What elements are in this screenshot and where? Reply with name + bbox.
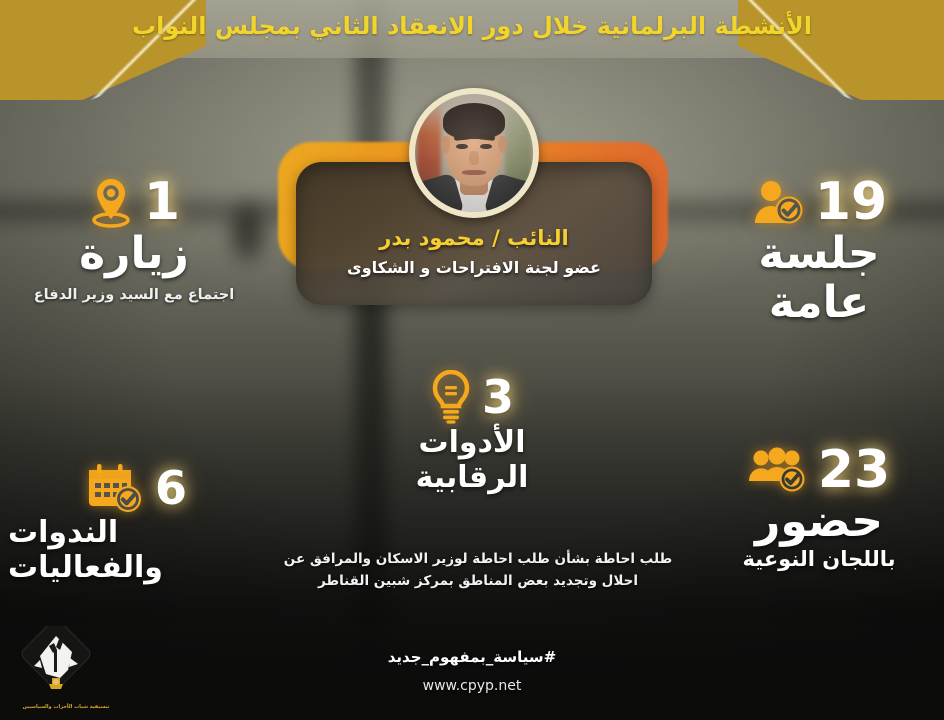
header-banner: الأنشطة البرلمانية خلال دور الانعقاد الث…: [0, 0, 944, 58]
stat-tools: 3 الأدوات الرقابية: [332, 370, 612, 493]
lightbulb-icon: [430, 370, 472, 424]
stat-visit-label: زيارة: [0, 232, 268, 277]
stat-visit-value: 1: [144, 176, 180, 228]
footer-url[interactable]: www.cpyp.net: [0, 678, 944, 694]
stat-tools-label-1: الأدوات: [332, 428, 612, 459]
stat-visit-note: اجتماع مع السيد وزير الدفاع: [0, 285, 268, 306]
footer: #سياسة_بمفهوم_جديد www.cpyp.net تنسيقية …: [0, 624, 944, 720]
stat-visit: 1 زيارة اجتماع مع السيد وزير الدفاع: [0, 176, 268, 306]
stat-tools-note: طلب احاطة بشأن طلب احاطة لوزير الاسكان و…: [268, 548, 688, 593]
user-check-icon: [751, 179, 805, 225]
logo-caption: تنسيقية شباب الأحزاب والسياسيين: [16, 704, 116, 710]
mp-name: النائب / محمود بدر: [296, 226, 652, 250]
users-check-icon: [748, 447, 808, 493]
stat-sessions: 19 جلسة عامة: [694, 176, 944, 326]
map-pin-icon: [88, 176, 134, 228]
stat-attendance-label: حضور: [694, 500, 944, 545]
footer-hashtag: #سياسة_بمفهوم_جديد: [0, 648, 944, 666]
stat-attendance-sub: باللجان النوعية: [694, 547, 944, 571]
stat-sessions-value: 19: [815, 176, 887, 228]
stat-events: 6 الندوات والفعاليات: [8, 462, 264, 583]
mp-card: النائب / محمود بدر عضو لجنة الافتراحات و…: [282, 150, 664, 305]
stat-attendance-value: 23: [818, 444, 890, 496]
stat-sessions-label-1: جلسة: [694, 232, 944, 277]
avatar: [409, 88, 539, 218]
calendar-check-icon: [85, 462, 143, 514]
coalition-diamond-logo-icon: تنسيقية شباب الأحزاب والسياسيين: [16, 626, 116, 712]
stat-tools-label-2: الرقابية: [332, 463, 612, 494]
stat-attendance: 23 حضور باللجان النوعية: [694, 444, 944, 571]
stat-tools-value: 3: [482, 374, 514, 420]
stat-sessions-label-2: عامة: [694, 281, 944, 326]
mp-role: عضو لجنة الافتراحات و الشكاوى: [296, 258, 652, 277]
infographic-canvas: الأنشطة البرلمانية خلال دور الانعقاد الث…: [0, 0, 944, 720]
portrait-photo-icon: [415, 94, 533, 212]
page-title: الأنشطة البرلمانية خلال دور الانعقاد الث…: [0, 6, 944, 46]
stat-events-label-1: الندوات: [8, 518, 118, 549]
mp-card-body: النائب / محمود بدر عضو لجنة الافتراحات و…: [296, 162, 652, 305]
stat-events-label-2: والفعاليات: [8, 553, 163, 584]
stat-events-value: 6: [155, 465, 187, 511]
